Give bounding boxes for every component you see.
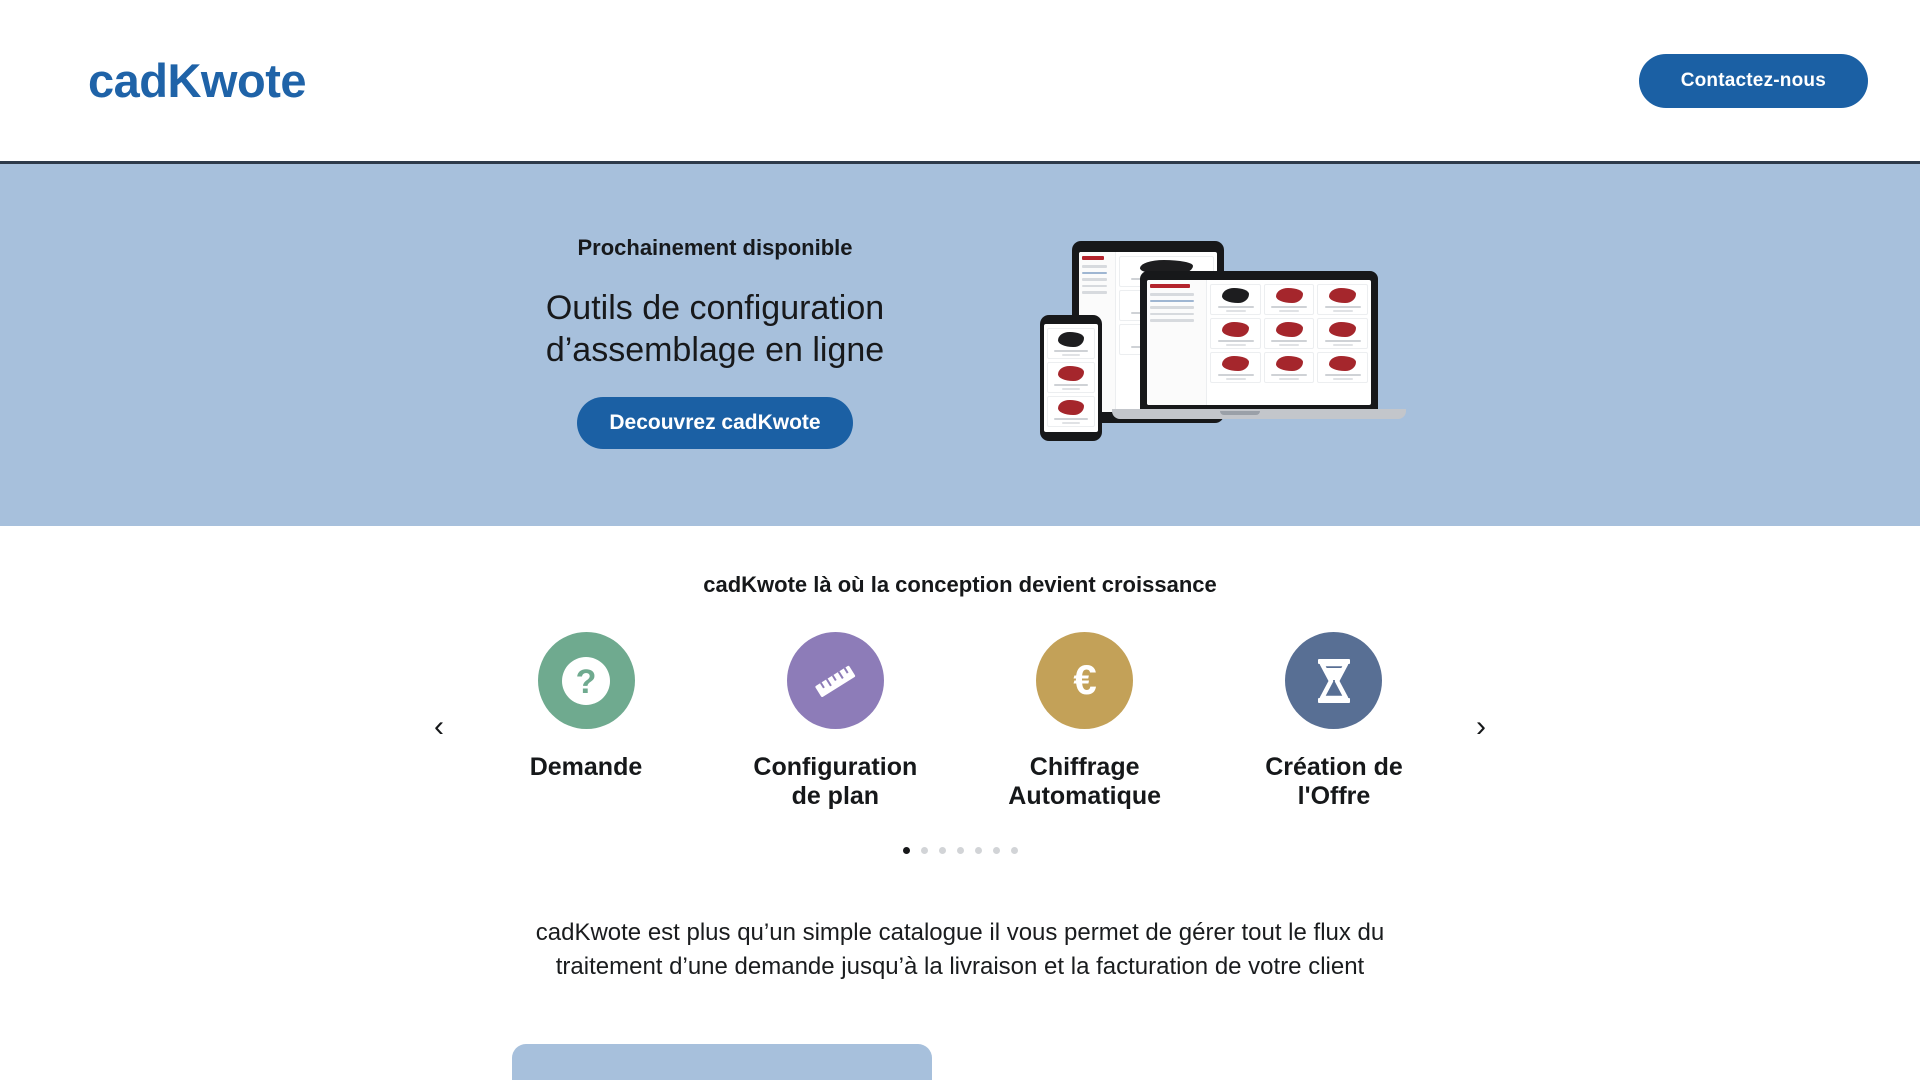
feature-label-line-1: Configuration — [753, 753, 917, 781]
hero-title-line-1: Outils de configuration — [546, 289, 884, 327]
feature-item-configuration-de-plan[interactable]: Configuration de plan — [741, 632, 929, 811]
ruler-icon — [787, 632, 884, 729]
mock-nav-item — [1150, 313, 1194, 316]
feature-label: Configuration de plan — [741, 753, 929, 811]
brand-logo[interactable]: cadKwote — [88, 57, 306, 104]
euro-icon: € — [1036, 632, 1133, 729]
carousel-next-arrow-icon[interactable]: › — [1464, 710, 1498, 744]
feature-item-creation-de-loffre[interactable]: Création de l'Offre — [1240, 632, 1428, 811]
features-title: cadKwote là où la conception devient cro… — [0, 572, 1920, 598]
feature-label-line-2: Automatique — [1008, 782, 1161, 810]
carousel-dot[interactable] — [975, 847, 982, 854]
mock-product-card — [1264, 318, 1315, 349]
mock-product-card — [1210, 284, 1261, 315]
mock-product-card — [1264, 284, 1315, 315]
mock-product-card — [1317, 352, 1368, 383]
carousel-dot[interactable] — [957, 847, 964, 854]
carousel-dot[interactable] — [993, 847, 1000, 854]
mock-sidebar — [1147, 280, 1207, 405]
svg-text:?: ? — [576, 663, 597, 701]
feature-label: Chiffrage Automatique — [991, 753, 1179, 811]
feature-label: Demande — [492, 753, 680, 782]
feature-label-line-2: de plan — [792, 782, 880, 810]
hero-section: Prochainement disponible Outils de confi… — [0, 164, 1920, 526]
intro-line-2: d’une demande jusqu’à la livraison et la… — [669, 953, 1364, 980]
laptop-screen — [1147, 280, 1371, 405]
mock-product-card — [1210, 318, 1261, 349]
mock-nav-item — [1082, 278, 1107, 281]
mock-product-card — [1317, 284, 1368, 315]
feature-label-line-1: Création de — [1265, 753, 1403, 781]
feature-label-line-1: Demande — [530, 753, 643, 781]
devices-mockup — [1040, 235, 1440, 455]
question-mark-icon: ? — [538, 632, 635, 729]
features-section: cadKwote là où la conception devient cro… — [0, 526, 1920, 854]
mock-nav-item — [1082, 285, 1107, 288]
mock-product-card — [1047, 362, 1095, 393]
contact-button[interactable]: Contactez-nous — [1639, 54, 1868, 108]
mock-nav-item — [1150, 293, 1194, 296]
feature-label-line-2: l'Offre — [1298, 782, 1371, 810]
phone-device-icon — [1040, 315, 1102, 441]
mock-logo-icon — [1082, 256, 1104, 260]
hero-title: Outils de configuration d’assemblage en … — [480, 287, 950, 371]
mock-product-card — [1264, 352, 1315, 383]
feature-item-demande[interactable]: ? Demande — [492, 632, 680, 811]
mock-catalog — [1207, 280, 1371, 405]
carousel-prev-arrow-icon[interactable]: ‹ — [422, 710, 456, 744]
mock-logo-icon — [1150, 284, 1190, 288]
mock-product-card — [1210, 352, 1261, 383]
bottom-card — [512, 1044, 932, 1080]
site-header: cadKwote Contactez-nous — [0, 0, 1920, 164]
mock-product-card — [1047, 396, 1095, 427]
intro-section: cadKwote est plus qu’un simple catalogue… — [0, 916, 1920, 984]
laptop-device-icon — [1140, 271, 1378, 411]
mock-nav-item — [1150, 306, 1194, 309]
features-carousel: ‹ › ? Demande — [460, 632, 1460, 854]
mock-nav-item — [1082, 265, 1107, 268]
hero-eyebrow: Prochainement disponible — [480, 235, 950, 261]
bottom-card-wrap — [0, 1044, 1920, 1080]
mock-product-card — [1047, 328, 1095, 359]
hourglass-icon — [1285, 632, 1382, 729]
hero-copy: Prochainement disponible Outils de confi… — [480, 235, 950, 449]
mock-catalog — [1044, 324, 1098, 432]
phone-screen — [1044, 324, 1098, 432]
carousel-dot[interactable] — [903, 847, 910, 854]
feature-label-line-1: Chiffrage — [1030, 753, 1140, 781]
mock-nav-item — [1082, 272, 1107, 275]
laptop-notch — [1220, 411, 1260, 415]
mock-nav-item — [1150, 300, 1194, 303]
feature-item-chiffrage-automatique[interactable]: € Chiffrage Automatique — [991, 632, 1179, 811]
hero-cta-button[interactable]: Decouvrez cadKwote — [577, 397, 852, 449]
carousel-dots — [460, 847, 1460, 854]
carousel-dot[interactable] — [921, 847, 928, 854]
mock-nav-item — [1150, 319, 1194, 322]
svg-text:€: € — [1073, 656, 1096, 703]
mock-nav-item — [1082, 291, 1107, 294]
carousel-dot[interactable] — [1011, 847, 1018, 854]
hero-title-line-2: d’assemblage en ligne — [546, 331, 884, 369]
carousel-dot[interactable] — [939, 847, 946, 854]
intro-paragraph: cadKwote est plus qu’un simple catalogue… — [500, 916, 1420, 984]
feature-label: Création de l'Offre — [1240, 753, 1428, 811]
mock-product-card — [1317, 318, 1368, 349]
carousel-track: ? Demande — [460, 632, 1460, 811]
